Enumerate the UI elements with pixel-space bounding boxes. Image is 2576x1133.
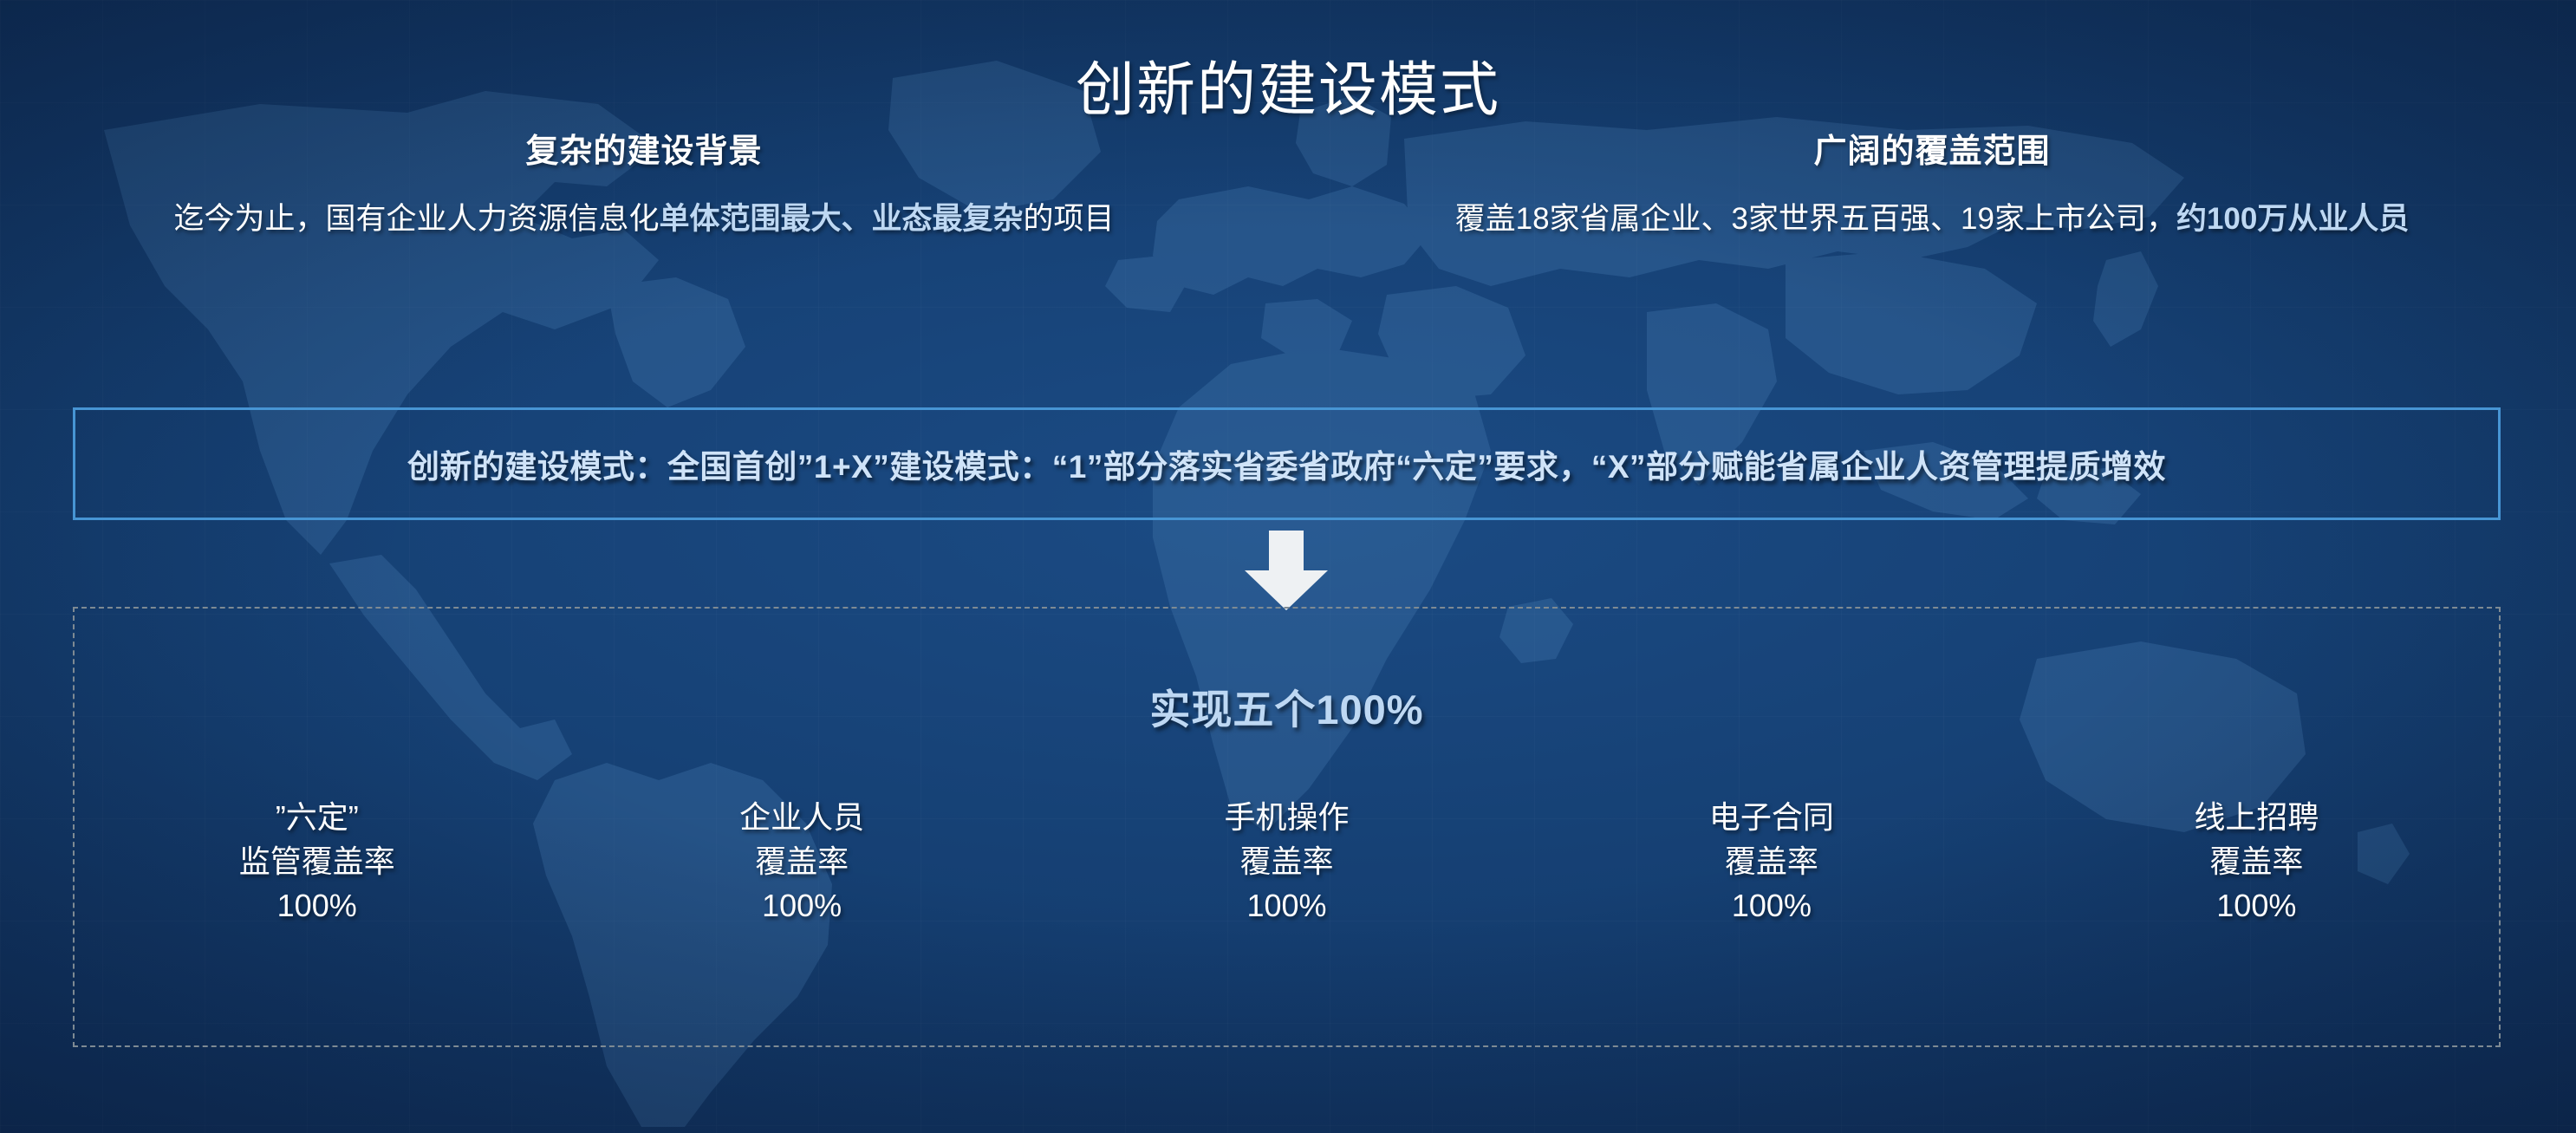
column-heading-coverage: 广阔的覆盖范围 [1338,132,2526,173]
background-text-highlight: 单体范围最大、业态最复杂 [659,202,1023,236]
innovation-model-banner: 创新的建设模式：全国首创”1+X”建设模式：“1”部分落实省委省政府“六定”要求… [73,407,2501,520]
column-body-coverage: 覆盖18家省属企业、3家世界五百强、19家上市公司，约100万从业人员 [1338,198,2526,241]
metric-line-2: 覆盖率 [1529,839,2013,883]
background-text-plain-1: 迄今为止，国有企业人力资源信息化 [173,202,659,236]
column-heading-background: 复杂的建设背景 [50,132,1238,173]
top-columns: 复杂的建设背景 迄今为止，国有企业人力资源信息化单体范围最大、业态最复杂的项目 … [0,132,2576,240]
column-construction-background: 复杂的建设背景 迄今为止，国有企业人力资源信息化单体范围最大、业态最复杂的项目 [0,132,1288,240]
arrow-down-icon [1245,531,1328,610]
metrics-row: ”六定” 监管覆盖率 100% 企业人员 覆盖率 100% 手机操作 覆盖率 1… [75,795,2499,928]
results-title: 实现五个100% [75,676,2499,736]
metric-value: 100% [1529,883,2013,928]
column-body-background: 迄今为止，国有企业人力资源信息化单体范围最大、业态最复杂的项目 [50,198,1238,241]
metric-line-2: 覆盖率 [559,839,1044,883]
metric-line-2: 覆盖率 [2014,839,2499,883]
metric-line-1: ”六定” [75,795,559,839]
page-title: 创新的建设模式 [0,55,2576,127]
metric-value: 100% [75,883,559,928]
metric-value: 100% [2014,883,2499,928]
metric-line-2: 覆盖率 [1044,839,1529,883]
metric-value: 100% [559,883,1044,928]
metric-line-1: 企业人员 [559,795,1044,839]
metric-item: ”六定” 监管覆盖率 100% [75,795,559,928]
metric-item: 手机操作 覆盖率 100% [1044,795,1529,928]
metric-item: 线上招聘 覆盖率 100% [2014,795,2499,928]
banner-text: 创新的建设模式：全国首创”1+X”建设模式：“1”部分落实省委省政府“六定”要求… [407,440,2166,487]
background-text-plain-2: 的项目 [1024,202,1115,236]
slide-root: 创新的建设模式 复杂的建设背景 迄今为止，国有企业人力资源信息化单体范围最大、业… [0,0,2576,1133]
metric-item: 企业人员 覆盖率 100% [559,795,1044,928]
results-panel: 实现五个100% ”六定” 监管覆盖率 100% 企业人员 覆盖率 100% 手… [73,607,2501,1047]
metric-item: 电子合同 覆盖率 100% [1529,795,2013,928]
metric-line-1: 手机操作 [1044,795,1529,839]
coverage-text-highlight: 约100万从业人员 [2176,202,2409,236]
metric-line-2: 监管覆盖率 [75,839,559,883]
metric-value: 100% [1044,883,1529,928]
coverage-text-plain-1: 覆盖18家省属企业、3家世界五百强、19家上市公司， [1455,202,2176,236]
metric-line-1: 线上招聘 [2014,795,2499,839]
metric-line-1: 电子合同 [1529,795,2013,839]
column-coverage-scope: 广阔的覆盖范围 覆盖18家省属企业、3家世界五百强、19家上市公司，约100万从… [1288,132,2576,240]
